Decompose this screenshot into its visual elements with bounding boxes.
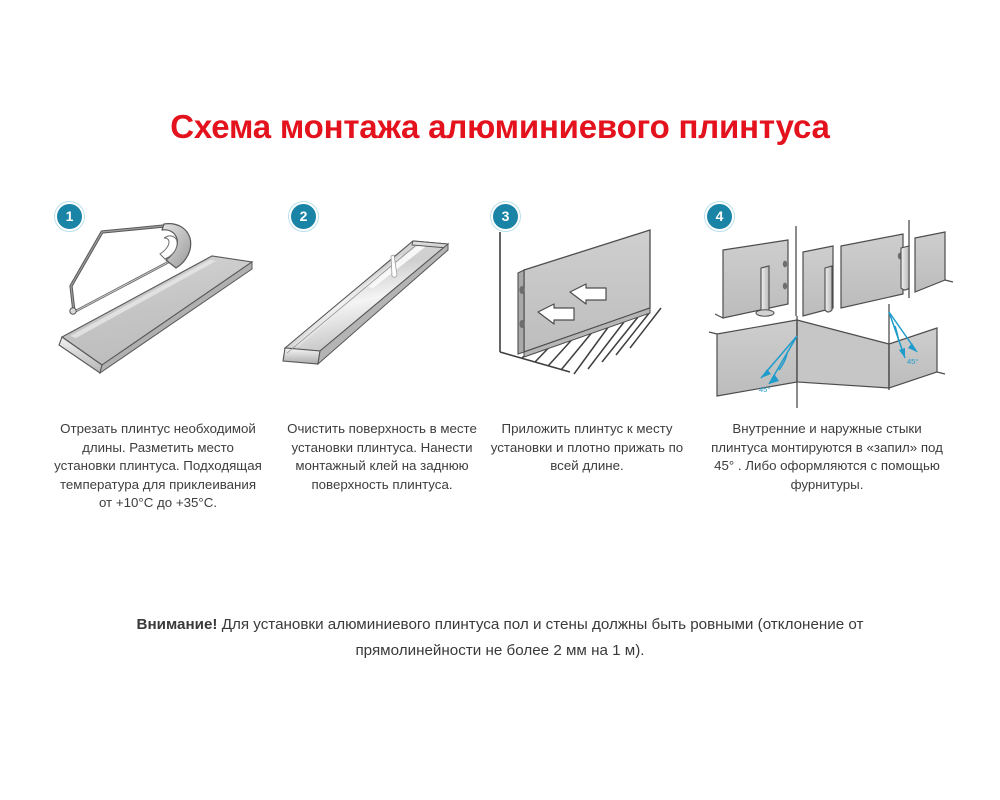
angle-label-inner: 45° xyxy=(759,385,770,394)
attention-note-text: Для установки алюминиевого плинтуса пол … xyxy=(217,616,863,659)
attention-note: Внимание! Для установки алюминиевого пли… xyxy=(80,612,920,664)
step-caption-4: Внутренние и наружные стыки плинтуса мон… xyxy=(711,420,943,494)
step-badge-4: 4 xyxy=(705,202,734,231)
step-badge-2: 2 xyxy=(289,202,318,231)
step-badge-3: 3 xyxy=(491,202,520,231)
plinth-profile-icon xyxy=(273,212,478,412)
page-title: Схема монтажа алюминиевого плинтуса xyxy=(0,106,1000,148)
corner-joints-45-icon: 45° 45° xyxy=(693,212,960,412)
step-caption-2: Очистить поверхность в месте установки п… xyxy=(283,420,481,494)
instruction-poster: Схема монтажа алюминиевого плинтуса 1 xyxy=(0,0,1000,800)
attention-note-lead: Внимание! xyxy=(136,616,217,633)
angle-label-outer: 45° xyxy=(907,357,918,366)
step-caption-3: Приложить плинтус к месту установки и пл… xyxy=(482,420,692,476)
press-plinth-to-wall-icon xyxy=(478,212,693,412)
hacksaw-over-plinth-icon xyxy=(40,212,273,412)
step-caption-1: Отрезать плинтус необходимой длины. Разм… xyxy=(54,420,262,513)
step-badge-1: 1 xyxy=(55,202,84,231)
